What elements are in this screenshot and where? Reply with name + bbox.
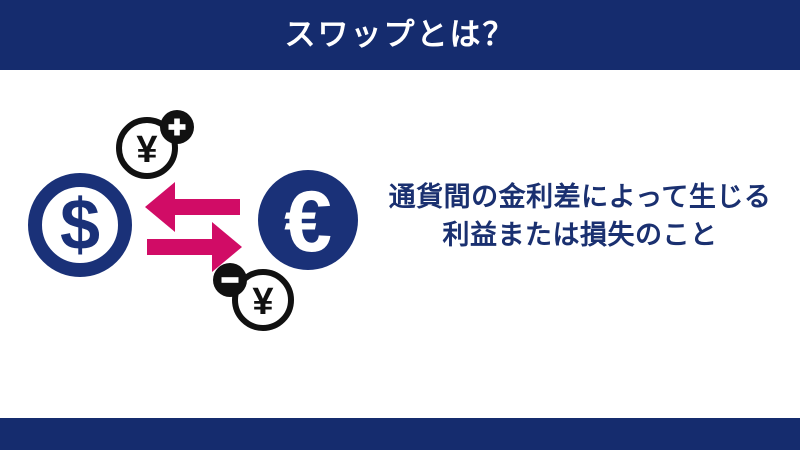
minus-sign-icon bbox=[213, 263, 247, 297]
currency-swap-diagram: $ € ¥ bbox=[10, 110, 370, 340]
arrow-left-icon bbox=[145, 182, 240, 232]
yen-plus-badge: ¥ bbox=[119, 110, 194, 176]
content-stage: $ € ¥ bbox=[0, 70, 800, 418]
page-title: スワップとは？ bbox=[0, 0, 800, 70]
slide-canvas: スワップとは？ $ € bbox=[0, 0, 800, 450]
euro-coin-icon: € bbox=[258, 170, 358, 270]
description-line-1: 通貨間の金利差によって生じる bbox=[370, 178, 790, 216]
dollar-coin-icon: $ bbox=[35, 180, 125, 270]
footer-bar bbox=[0, 418, 800, 450]
yen-minus-badge: ¥ bbox=[213, 263, 291, 328]
svg-text:€: € bbox=[284, 174, 332, 270]
svg-text:¥: ¥ bbox=[136, 129, 157, 171]
plus-sign-icon bbox=[160, 110, 194, 144]
description-line-2: 利益または損失のこと bbox=[370, 216, 790, 254]
svg-text:$: $ bbox=[60, 185, 100, 265]
description-text: 通貨間の金利差によって生じる 利益または損失のこと bbox=[370, 178, 790, 254]
header-bar: スワップとは？ bbox=[0, 0, 800, 70]
svg-text:¥: ¥ bbox=[252, 281, 273, 323]
